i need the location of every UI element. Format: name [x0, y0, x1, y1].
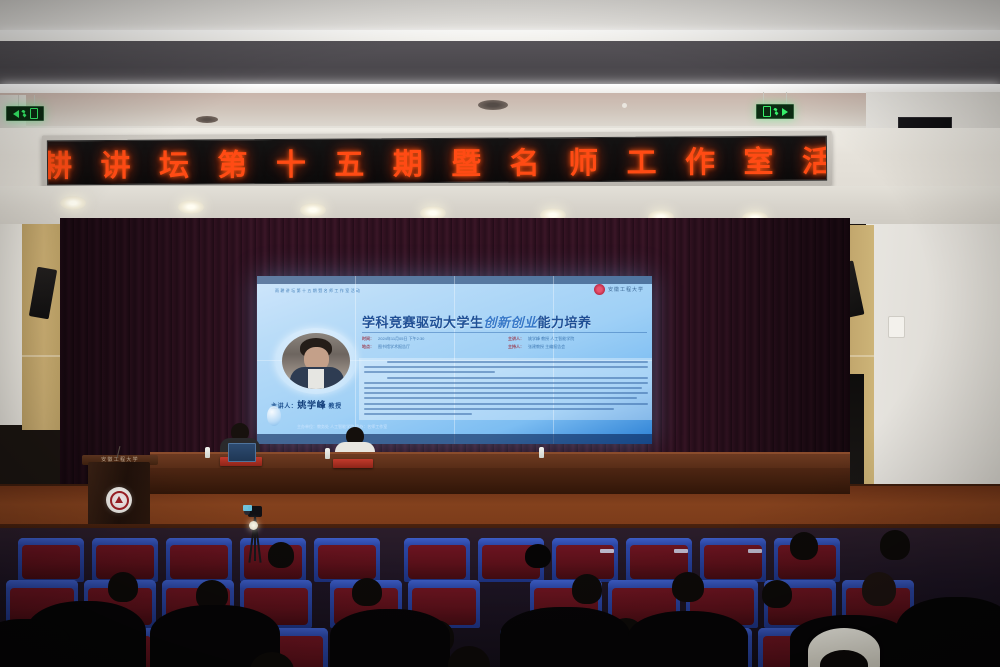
audience-head	[352, 578, 382, 606]
seat	[700, 538, 766, 582]
university-emblem-icon	[106, 487, 132, 513]
seat	[18, 538, 84, 582]
ceiling-upper-surface	[0, 0, 1000, 34]
slide-title-handwritten: 创新创业	[484, 315, 538, 330]
speaker-name: 姚学峰	[297, 400, 326, 410]
nameplate	[333, 459, 373, 468]
slide-meta-row: 地点：图书馆学术报告厅	[362, 344, 492, 350]
slide-meta-key: 主持人：	[508, 344, 524, 350]
audience-head-foreground	[896, 597, 1000, 667]
slide-meta-list: 时间：2024年11月05日 下午2:30 主讲人：姚学峰 教授 人工智能学院 …	[362, 336, 652, 350]
audience-head-foreground	[500, 607, 630, 667]
audience-head	[762, 580, 792, 608]
slide-bottom-band	[257, 434, 652, 444]
slide-meta-value: 姚学峰 教授 人工智能学院	[528, 336, 574, 342]
audience-head-foreground	[628, 611, 748, 667]
slide-university-logo: 安徽工程大学	[594, 284, 644, 295]
camera-light	[249, 521, 258, 530]
running-man-icon	[21, 110, 28, 118]
seat	[404, 538, 470, 582]
head-table-skirt	[150, 468, 850, 494]
slide-meta-key: 主讲人：	[508, 336, 524, 342]
ceiling-downlight	[178, 200, 204, 214]
water-bottle	[205, 447, 210, 458]
audience-head	[880, 530, 910, 560]
slide-title-part2: 能力培养	[538, 315, 592, 330]
projection-screen: 雨耕讲坛第十五期暨名师工作室活动 安徽工程大学 学科竞赛驱动大学生创新创业能力培…	[257, 276, 652, 444]
speaker-name-label: 主讲人：姚学峰 教授	[271, 398, 361, 411]
led-banner-text: 雨 耕 讲 坛 第 十 五 期 暨 名 师 工 作 室 活 动	[47, 136, 827, 186]
ceiling-downlight	[300, 203, 326, 217]
ceiling-downlight	[60, 196, 86, 210]
water-bottle	[325, 448, 330, 459]
exit-door-icon	[30, 108, 38, 119]
slide-footer-note: 主办单位：教务处 人工智能学院 承办：名师工作室	[297, 424, 497, 430]
ceiling-vent-icon	[478, 100, 508, 110]
exit-sign-left	[6, 106, 44, 121]
water-droplet-icon	[267, 406, 281, 426]
laptop[interactable]	[228, 443, 256, 462]
exit-door-icon	[763, 106, 771, 117]
speaker-portrait-frame	[275, 328, 357, 394]
audience-head	[525, 544, 551, 568]
slide-meta-key: 地点：	[362, 344, 374, 350]
slide-title-part1: 学科竞赛驱动大学生	[362, 315, 484, 330]
ceiling-vent-icon	[196, 116, 218, 123]
auditorium-scene: 雨 耕 讲 坛 第 十 五 期 暨 名 师 工 作 室 活 动 雨耕讲坛第十五期…	[0, 0, 1000, 667]
audience-head-foreground	[330, 609, 450, 667]
slide-meta-row: 主讲人：姚学峰 教授 人工智能学院	[508, 336, 638, 342]
speaker-portrait-photo	[282, 333, 350, 389]
slide-title-divider	[362, 332, 647, 333]
audience-head	[790, 532, 818, 560]
slide-logo-name: 安徽工程大学	[608, 286, 644, 293]
exit-sign-right	[756, 104, 794, 119]
audience-head	[672, 572, 704, 602]
seat	[166, 538, 232, 582]
slide-body-text-block	[359, 358, 652, 420]
ceiling-dark-recess-band	[0, 41, 1000, 85]
exit-arrow-right-icon	[782, 108, 788, 116]
audience-seating-area	[0, 528, 1000, 667]
slide-meta-value: 图书馆学术报告厅	[378, 344, 410, 350]
water-bottle	[539, 447, 544, 458]
audience-head	[108, 572, 138, 602]
slide-title: 学科竞赛驱动大学生创新创业能力培养	[362, 312, 647, 331]
running-man-icon	[773, 108, 780, 116]
exit-arrow-left-icon	[13, 110, 19, 118]
slide-meta-value: 2024年11月05日 下午2:30	[378, 336, 424, 342]
ceiling-lower-surface	[0, 93, 1000, 129]
university-emblem-icon	[594, 284, 605, 295]
led-banner-frame: 雨 耕 讲 坛 第 十 五 期 暨 名 师 工 作 室 活 动	[42, 131, 832, 191]
audience-head	[448, 646, 490, 667]
audience-head	[862, 572, 896, 606]
slide-header-text: 雨耕讲坛第十五期暨名师工作室活动	[275, 288, 361, 294]
seat	[314, 538, 380, 582]
slide-meta-key: 时间：	[362, 336, 374, 342]
light-switch[interactable]	[888, 316, 905, 338]
audience-head	[572, 574, 602, 604]
camera-screen	[243, 505, 252, 511]
podium-sign-text: 安徽工程大学	[88, 456, 152, 463]
slide-meta-row: 主持人：张建教授 主编报告会	[508, 344, 638, 350]
ceiling-sprinkler-icon	[622, 103, 627, 108]
slide-meta-value: 张建教授 主编报告会	[528, 344, 565, 350]
slide-meta-row: 时间：2024年11月05日 下午2:30	[362, 336, 492, 342]
audience-head-foreground	[0, 619, 70, 667]
audience-head	[268, 542, 294, 568]
led-banner-screen: 雨 耕 讲 坛 第 十 五 期 暨 名 师 工 作 室 活 动	[47, 136, 827, 186]
speaker-name-suffix: 教授	[329, 404, 342, 410]
